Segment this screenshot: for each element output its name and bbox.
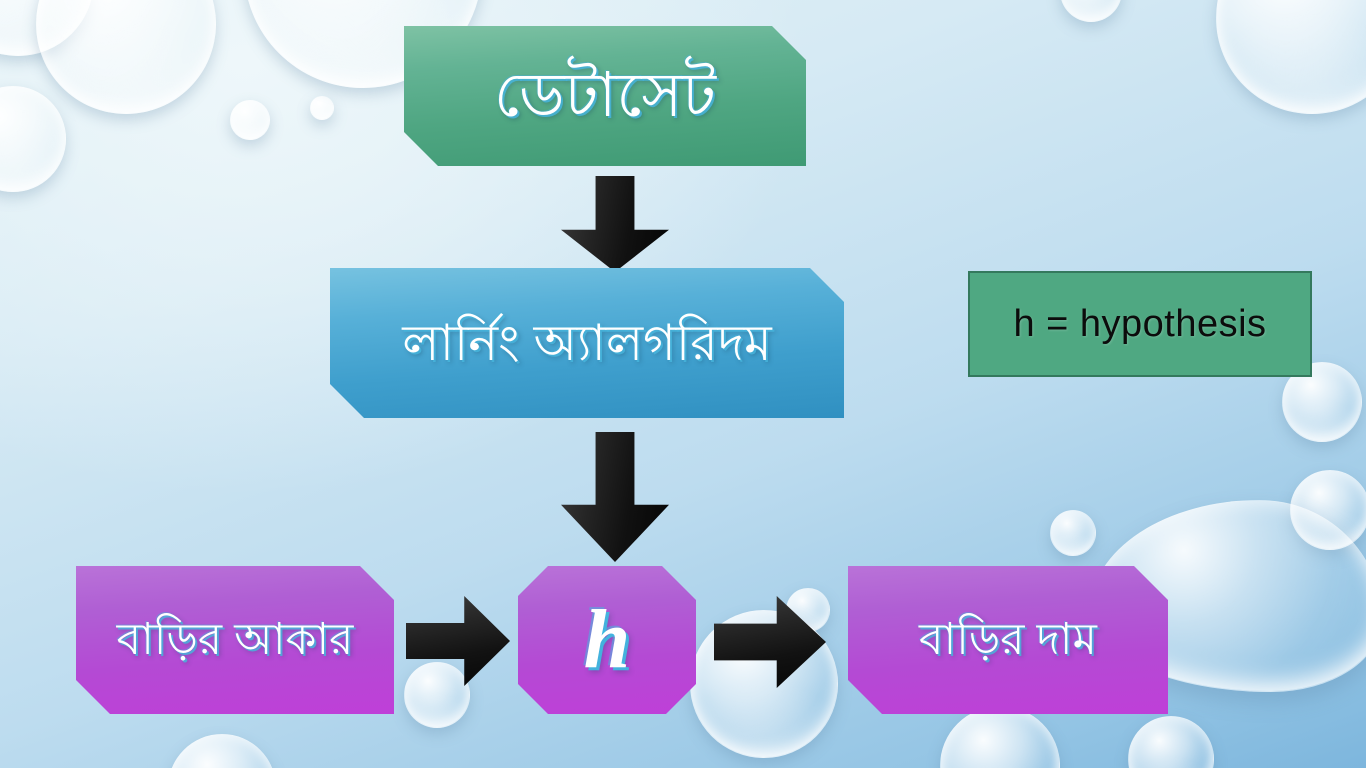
- slide-canvas: ডেটাসেট লার্নিং অ্যালগরিদম h = hypothesi…: [0, 0, 1366, 768]
- node-house-size-label: বাড়ির আকার: [117, 618, 354, 662]
- node-hypothesis[interactable]: h: [518, 566, 696, 714]
- bubble-decoration-icon: [404, 662, 470, 728]
- node-hypothesis-label: h: [584, 598, 631, 682]
- arrow-right-icon-hypothesis-to-price: [714, 596, 826, 688]
- bubble-decoration-icon: [1128, 716, 1214, 768]
- bubble-decoration-icon: [1216, 0, 1366, 114]
- bubble-decoration-icon: [168, 734, 276, 768]
- node-house-size[interactable]: বাড়ির আকার: [76, 566, 394, 714]
- node-house-price[interactable]: বাড়ির দাম: [848, 566, 1168, 714]
- bubble-decoration-icon: [310, 96, 334, 120]
- legend-hypothesis-box: h = hypothesis: [968, 271, 1312, 377]
- bubble-decoration-icon: [0, 0, 94, 56]
- bubble-decoration-icon: [940, 706, 1060, 768]
- node-dataset-label: ডেটাসেট: [494, 65, 716, 127]
- arrow-down-icon-dataset-to-algorithm: [561, 176, 669, 272]
- bubble-decoration-icon: [0, 86, 66, 192]
- arrow-down-icon-algorithm-to-hypothesis: [561, 432, 669, 562]
- legend-hypothesis-text: h = hypothesis: [1013, 303, 1266, 346]
- bubble-decoration-icon: [1290, 470, 1366, 550]
- node-house-price-label: বাড়ির দাম: [919, 618, 1097, 662]
- node-dataset[interactable]: ডেটাসেট: [404, 26, 806, 166]
- node-learning-algorithm-label: লার্নিং অ্যালগরিদম: [402, 318, 771, 368]
- bubble-decoration-icon: [1060, 0, 1122, 22]
- node-learning-algorithm[interactable]: লার্নিং অ্যালগরিদম: [330, 268, 844, 418]
- arrow-right-icon-size-to-hypothesis: [406, 596, 510, 686]
- bubble-decoration-icon: [1050, 510, 1096, 556]
- bubble-decoration-icon: [36, 0, 216, 114]
- bubble-decoration-icon: [230, 100, 270, 140]
